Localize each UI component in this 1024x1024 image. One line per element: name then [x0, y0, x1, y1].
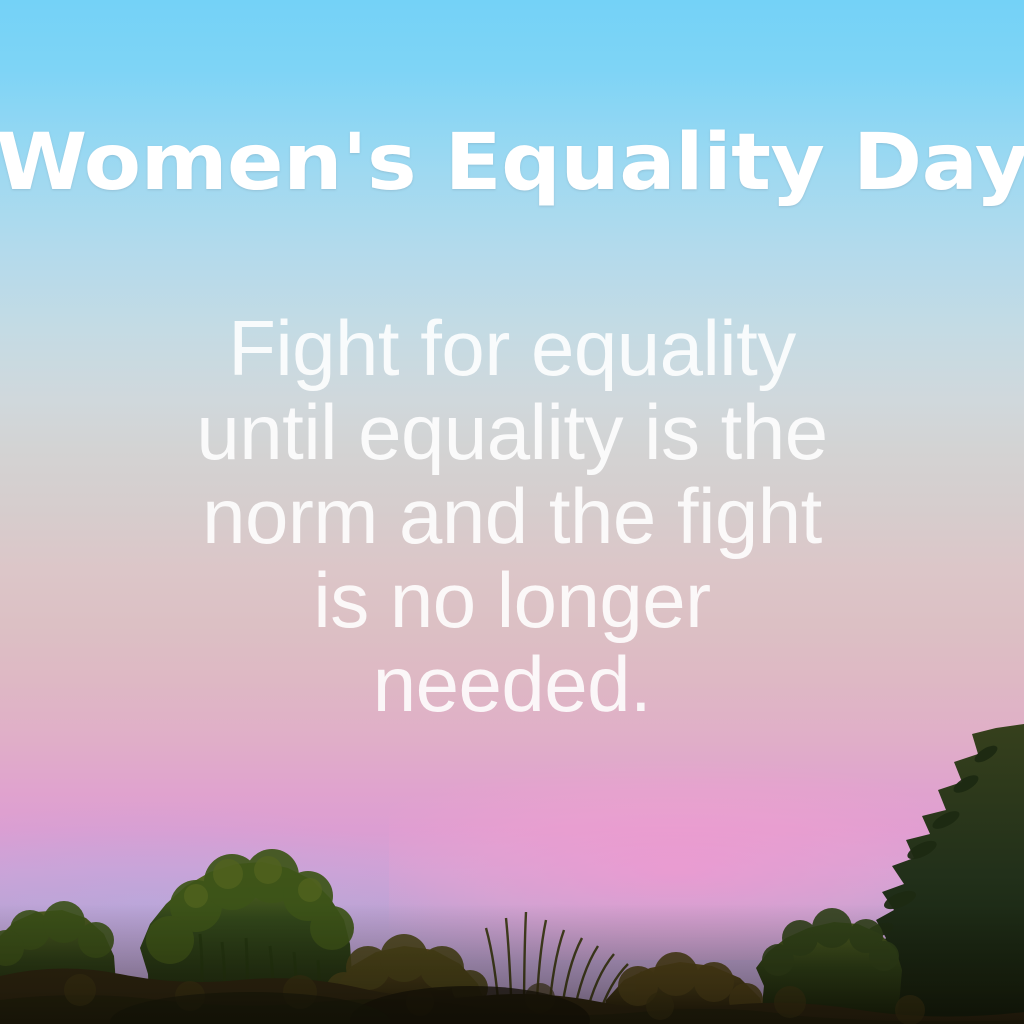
- page-title: Women's Equality Day: [0, 124, 1024, 202]
- quote-line-4: is no longer: [0, 558, 1024, 642]
- quote-line-2: until equality is the: [0, 390, 1024, 474]
- quote-line-3: norm and the fight: [0, 474, 1024, 558]
- poster-canvas: Women's Equality Day Fight for equality …: [0, 0, 1024, 1024]
- quote-line-5: needed.: [0, 642, 1024, 726]
- quote-line-1: Fight for equality: [0, 306, 1024, 390]
- quote-block: Fight for equality until equality is the…: [0, 306, 1024, 726]
